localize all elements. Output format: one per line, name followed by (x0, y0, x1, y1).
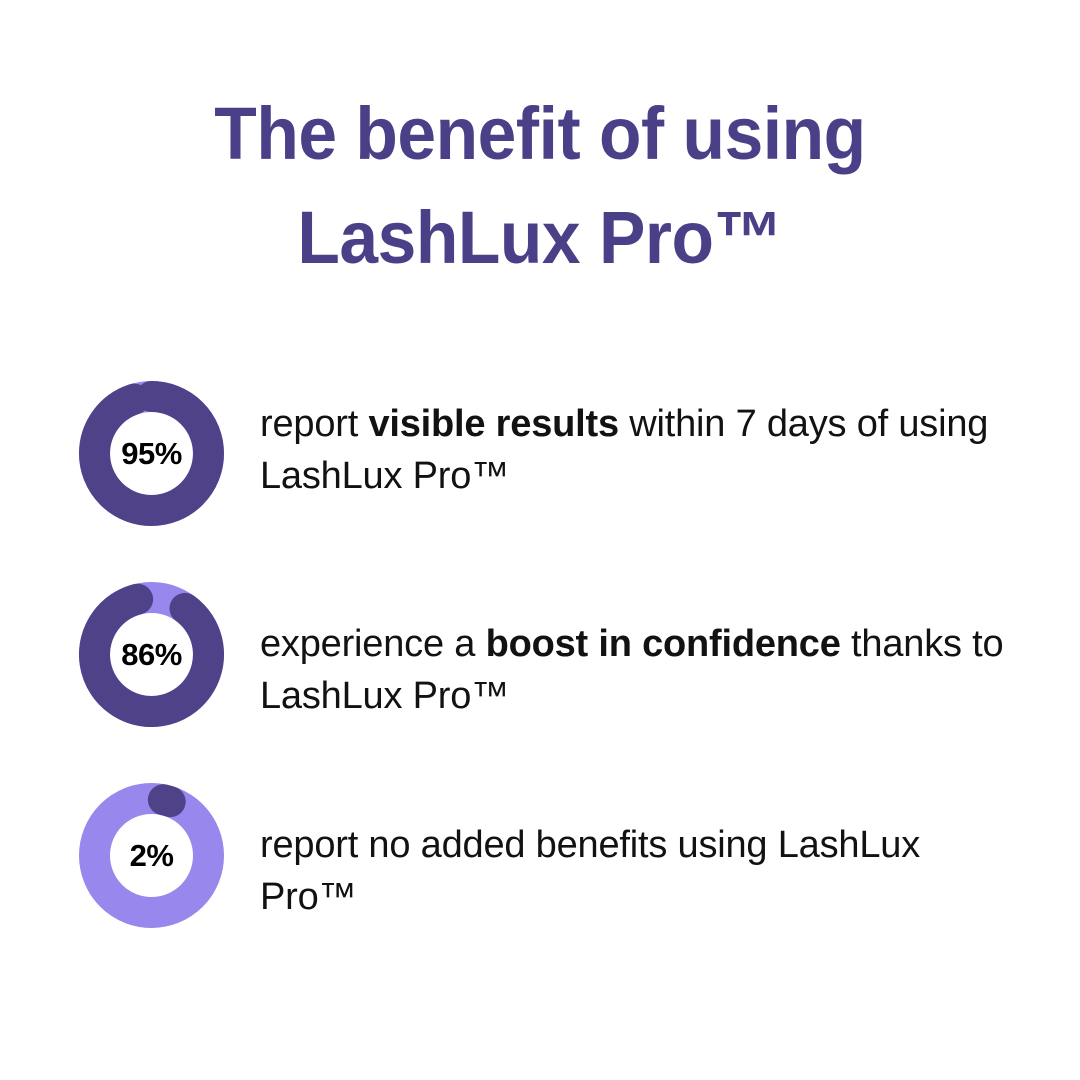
infographic-page: The benefit of using LashLux Pro™ 95% re… (0, 0, 1080, 1080)
stat-row: 95% report visible results within 7 days… (79, 381, 1039, 526)
donut-arc (79, 582, 224, 727)
donut-svg (79, 783, 224, 928)
donut-chart-95: 95% (79, 381, 224, 526)
page-title: The benefit of using LashLux Pro™ (0, 82, 1080, 290)
stat-text-run: report (260, 403, 368, 445)
stat-row: 86% experience a boost in confidence tha… (79, 582, 1039, 727)
donut-chart-2: 2% (79, 783, 224, 928)
donut-chart-86: 86% (79, 582, 224, 727)
stat-text-run: experience a (260, 623, 486, 665)
donut-svg (79, 582, 224, 727)
stat-emphasis: boost in confidence (486, 623, 841, 665)
page-title-line-1: The benefit of using (32, 82, 1047, 186)
stat-list: 95% report visible results within 7 days… (79, 381, 1039, 928)
stat-description: report no added benefits using LashLux P… (260, 783, 1020, 923)
stat-row: 2% report no added benefits using LashLu… (79, 783, 1039, 928)
stat-description: report visible results within 7 days of … (260, 381, 1020, 502)
stat-description: experience a boost in confidence thanks … (260, 582, 1020, 722)
donut-arc (95, 397, 209, 511)
stat-text-run: report no added benefits using LashLux P… (260, 824, 920, 918)
donut-svg (79, 381, 224, 526)
stat-emphasis: visible results (368, 403, 618, 445)
page-title-line-2: LashLux Pro™ (32, 186, 1047, 290)
donut-track (95, 799, 209, 913)
